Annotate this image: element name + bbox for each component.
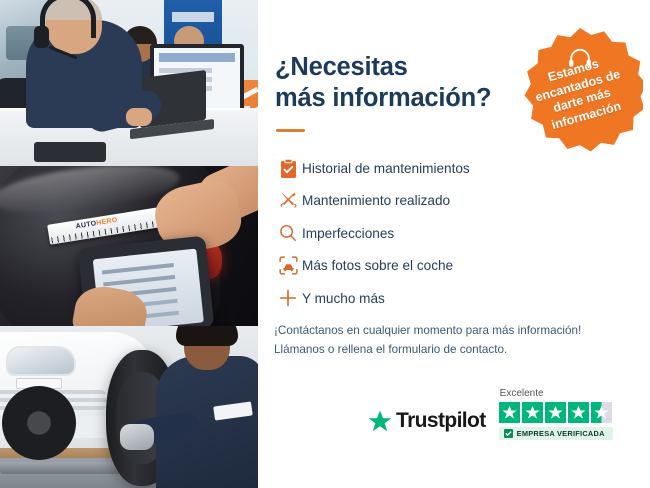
contact-text: ¡Contáctanos en cualquier momento para m… [274,322,624,360]
feature-item-mas: Y mucho más [274,282,534,315]
feature-item-mantenimiento: Mantenimiento realizado [274,185,534,218]
agent-headset-earcup [34,26,49,48]
rating-label: Excelente [500,388,544,399]
tools-icon [274,191,302,210]
feature-label: Imperfecciones [302,226,394,241]
call-center-agents-photo [0,0,258,166]
mechanic-hair [176,326,238,346]
star-3 [545,402,566,423]
feature-label: Mantenimiento realizado [302,193,450,208]
page-title: ¿Necesitas más información? [275,52,491,115]
feature-item-fotos: Más fotos sobre el coche [274,250,534,283]
trustpilot-rating[interactable]: Trustpilot Excelente [368,388,613,440]
ruler-text-hero: HERO [96,217,118,227]
car-inspection-ruler-photo: AUTOHERO [0,166,258,326]
feature-label: Más fotos sobre el coche [302,258,453,273]
car-lift-arm [0,462,120,474]
trustpilot-score-block: Excelente [499,388,613,440]
content-panel: ¿Necesitas más información? Estamos enca… [258,0,650,488]
magnifier-icon [274,224,302,242]
trustpilot-wordmark: Trustpilot [396,409,486,433]
contact-line-1: ¡Contáctanos en cualquier momento para m… [274,324,581,337]
car-headlight [6,346,76,376]
headline-line-1: ¿Necesitas [275,53,408,81]
support-badge: Estamos encantados de darte más informac… [517,28,643,154]
verified-company-label: EMPRESA VERIFICADA [517,429,605,438]
mechanic-wheel-photo [0,326,258,488]
feature-label: Historial de mantenimientos [302,161,470,176]
headline-line-2: más información? [275,84,491,112]
trustpilot-logo[interactable]: Trustpilot [368,409,486,440]
star-rating [499,402,612,423]
star-4 [568,402,589,423]
feature-item-imperfecciones: Imperfecciones [274,217,534,250]
star-5-half [591,402,612,423]
car-scan-icon [274,256,302,275]
desk-tablet [34,142,106,162]
feature-list: Historial de mantenimientos Mantenimient… [274,152,534,315]
headline-divider [276,129,305,132]
foreground-agent-hand [126,108,152,126]
star-2 [522,402,543,423]
rear-wheel [2,386,76,460]
clipboard-check-icon [274,159,302,178]
star-1 [499,402,520,423]
contact-line-2: Llámanos o rellena el formulario de cont… [274,343,507,356]
plus-icon [274,289,302,307]
trustpilot-star-icon [368,410,392,433]
photo-column: AUTOHERO [0,0,258,488]
feature-label: Y mucho más [302,291,385,306]
verified-check-icon [504,429,513,438]
ruler-text-auto: AUTO [75,220,97,230]
mechanic-glove [120,424,154,450]
verified-company-badge: EMPRESA VERIFICADA [499,427,613,440]
feature-item-historial: Historial de mantenimientos [274,152,534,185]
information-banner: AUTOHERO [0,0,650,488]
